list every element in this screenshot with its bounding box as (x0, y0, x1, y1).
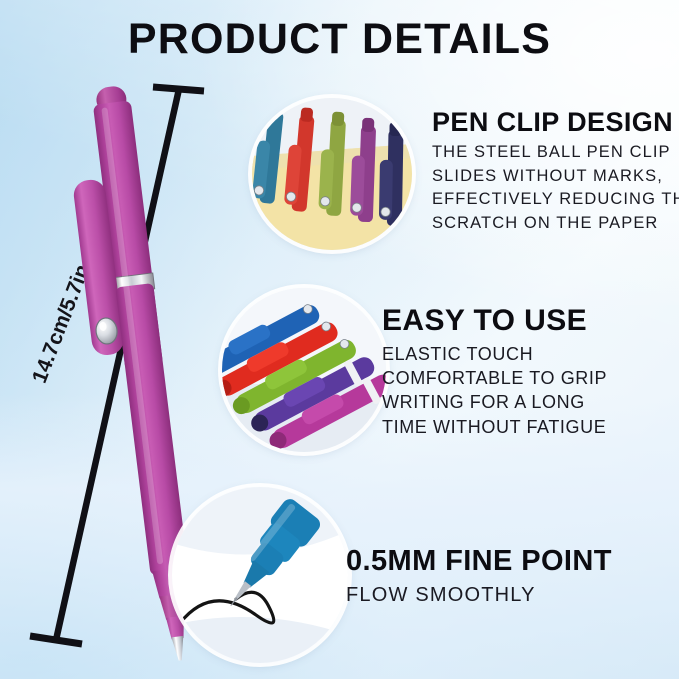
blue-pen-tip-writing-squiggle-icon (172, 487, 348, 663)
product-details-infographic: PRODUCT DETAILS 14.7cm/5.7in (0, 0, 679, 679)
feature-3-body: FLOW SMOOTHLY (346, 581, 612, 609)
feature-3-text: 0.5MM FINE POINT FLOW SMOOTHLY (346, 546, 612, 610)
feature-1-body-line-2: SLIDES WITHOUT MARKS, (432, 165, 679, 188)
feature-2-image (222, 288, 386, 452)
feature-1-heading: PEN CLIP DESIGN (432, 108, 679, 136)
pens-clipped-on-yellow-surface-icon (252, 98, 412, 250)
feature-2-body-line-2: COMFORTABLE TO GRIP (382, 366, 607, 390)
feature-2-body: ELASTIC TOUCH COMFORTABLE TO GRIP WRITIN… (382, 342, 607, 440)
feature-2-body-line-4: TIME WITHOUT FATIGUE (382, 415, 607, 439)
page-title: PRODUCT DETAILS (0, 18, 679, 61)
feature-2-heading: EASY TO USE (382, 305, 607, 337)
feature-1-body-line-1: THE STEEL BALL PEN CLIP (432, 141, 679, 164)
feature-3-body-line-1: FLOW SMOOTHLY (346, 581, 612, 609)
feature-3-heading: 0.5MM FINE POINT (346, 546, 612, 576)
feature-1-body: THE STEEL BALL PEN CLIP SLIDES WITHOUT M… (432, 141, 679, 235)
feature-1-text: PEN CLIP DESIGN THE STEEL BALL PEN CLIP … (432, 108, 679, 235)
feature-1-body-line-4: SCRATCH ON THE PAPER (432, 212, 679, 235)
feature-2-text: EASY TO USE ELASTIC TOUCH COMFORTABLE TO… (382, 305, 607, 439)
feature-1-body-line-3: EFFECTIVELY REDUCING THE (432, 188, 679, 211)
feature-1-image (252, 98, 412, 250)
feature-3-image (172, 487, 348, 663)
feature-2-body-line-3: WRITING FOR A LONG (382, 390, 607, 414)
five-pens-laid-diagonally-icon (222, 288, 386, 452)
feature-2-body-line-1: ELASTIC TOUCH (382, 342, 607, 366)
